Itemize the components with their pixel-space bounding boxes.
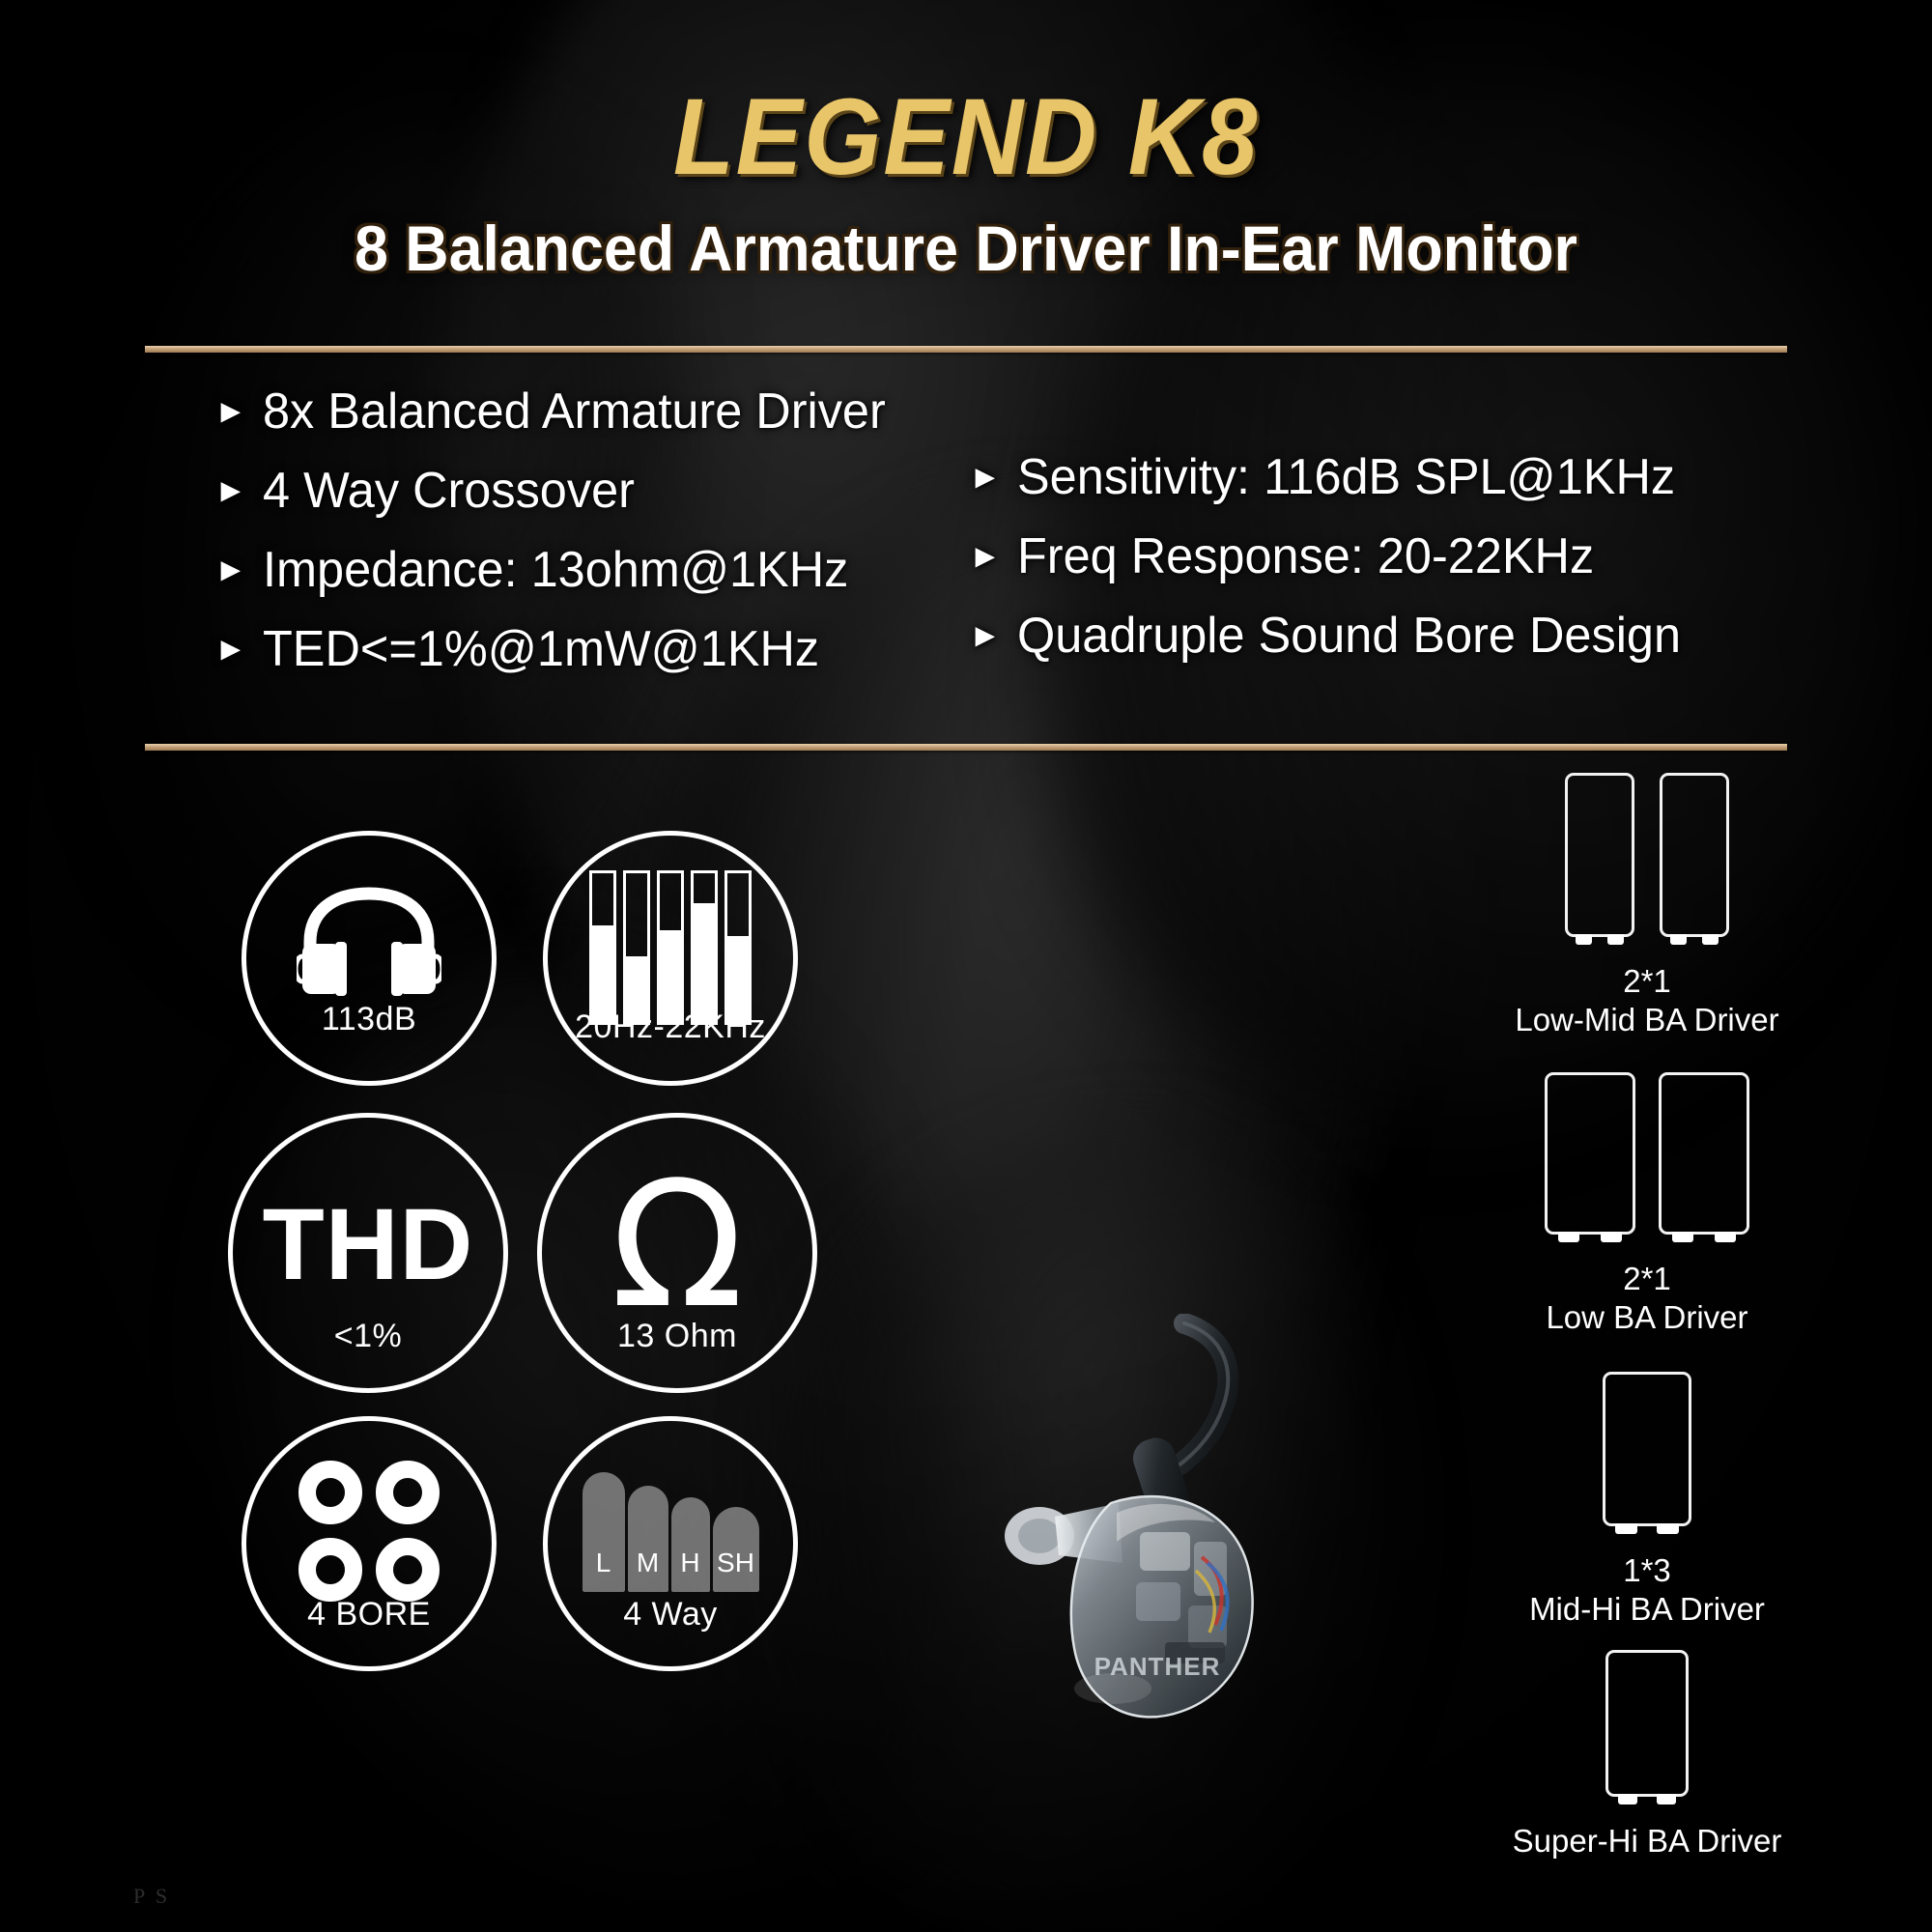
bore-ring <box>376 1461 440 1524</box>
ba-driver-icon <box>1659 1072 1749 1235</box>
icon-cell-sensitivity: 113dB <box>241 831 497 1086</box>
crossover-icon: L M H SH <box>582 1472 759 1592</box>
driver-label: Low-Mid BA Driver <box>1420 1001 1874 1039</box>
driver-label: Low BA Driver <box>1420 1298 1874 1337</box>
bullet-arrow-icon: ► <box>969 461 1002 494</box>
bullet-arrow-icon: ► <box>214 474 247 507</box>
spec-item: ► Sensitivity: 116dB SPL@1KHz <box>969 452 1701 502</box>
bore-circle: 4 BORE <box>241 1416 497 1671</box>
spec-label: TED<=1%@1mW@1KHz <box>263 624 819 674</box>
icon-cell-impedance: Ω 13 Ohm <box>537 1113 817 1393</box>
sensitivity-circle: 113dB <box>241 831 497 1086</box>
bullet-arrow-icon: ► <box>214 633 247 666</box>
bore-ring <box>298 1538 362 1602</box>
headphone-icon <box>297 886 441 1007</box>
ba-driver-icon <box>1545 1072 1635 1235</box>
eq-bar <box>589 870 616 1025</box>
driver-count: 2*1 <box>1420 962 1874 1001</box>
driver-label: Mid-Hi BA Driver <box>1420 1590 1874 1629</box>
driver-caption: Super-Hi BA Driver <box>1420 1822 1874 1861</box>
spec-item: ► Quadruple Sound Bore Design <box>969 611 1701 661</box>
infographic-page: LEGEND K8 8 Balanced Armature Driver In-… <box>0 0 1932 1932</box>
ba-driver-icon <box>1605 1650 1689 1797</box>
eq-bar <box>724 870 752 1025</box>
bullet-arrow-icon: ► <box>214 554 247 586</box>
icon-cell-bore: 4 BORE <box>241 1416 497 1671</box>
divider-bottom <box>145 744 1787 751</box>
spec-label: Quadruple Sound Bore Design <box>1017 611 1681 661</box>
bore-ring <box>376 1538 440 1602</box>
crossover-band: H <box>671 1497 710 1592</box>
driver-group-super-hi: Super-Hi BA Driver <box>1420 1650 1874 1861</box>
driver-label: Super-Hi BA Driver <box>1420 1822 1874 1861</box>
crossover-band: M <box>628 1486 668 1592</box>
page-subtitle: 8 Balanced Armature Driver In-Ear Monito… <box>48 216 1884 280</box>
ba-driver-icon <box>1603 1372 1691 1526</box>
driver-group-mid-hi: 1*3 Mid-Hi BA Driver <box>1420 1372 1874 1630</box>
four-bore-icon <box>298 1461 440 1602</box>
driver-row <box>1420 1372 1874 1526</box>
spec-label: Impedance: 13ohm@1KHz <box>263 545 848 595</box>
spec-item: ► 4 Way Crossover <box>214 466 904 516</box>
driver-caption: 2*1 Low BA Driver <box>1420 1260 1874 1338</box>
spec-item: ► 8x Balanced Armature Driver <box>214 386 904 437</box>
eq-bar <box>657 870 684 1025</box>
thd-circle: THD <1% <box>228 1113 508 1393</box>
spec-list: ► 8x Balanced Armature Driver ► 4 Way Cr… <box>0 386 1932 724</box>
crossover-band: L <box>582 1472 625 1592</box>
crossover-band: SH <box>713 1507 759 1592</box>
impedance-label: 13 Ohm <box>542 1318 812 1355</box>
spec-label: 8x Balanced Armature Driver <box>263 386 886 437</box>
eq-bar <box>691 870 718 1025</box>
spec-label: Sensitivity: 116dB SPL@1KHz <box>1017 452 1675 502</box>
thd-glyph: THD <box>263 1194 474 1295</box>
spec-item: ► TED<=1%@1mW@1KHz <box>214 624 904 674</box>
icon-cell-crossover: L M H SH 4 Way <box>543 1416 798 1671</box>
page-title: LEGEND K8 <box>77 83 1855 191</box>
driver-caption: 1*3 Mid-Hi BA Driver <box>1420 1551 1874 1630</box>
spec-column-right: ► Sensitivity: 116dB SPL@1KHz ► Freq Res… <box>969 452 1701 690</box>
driver-count: 2*1 <box>1420 1260 1874 1298</box>
crossover-label: 4 Way <box>548 1596 793 1634</box>
thd-label: <1% <box>233 1318 503 1355</box>
spec-item: ► Impedance: 13ohm@1KHz <box>214 545 904 595</box>
ba-driver-icon <box>1565 773 1634 937</box>
bullet-arrow-icon: ► <box>214 395 247 428</box>
bullet-arrow-icon: ► <box>969 540 1002 573</box>
icon-cell-frequency: 20Hz-22KHz <box>543 831 798 1086</box>
bullet-arrow-icon: ► <box>969 619 1002 652</box>
impedance-circle: Ω 13 Ohm <box>537 1113 817 1393</box>
driver-count: 1*3 <box>1420 1551 1874 1590</box>
watermark: P S <box>133 1884 170 1909</box>
driver-caption: 2*1 Low-Mid BA Driver <box>1420 962 1874 1040</box>
header: LEGEND K8 8 Balanced Armature Driver In-… <box>0 0 1932 280</box>
eq-bar <box>623 870 650 1025</box>
driver-group-low: 2*1 Low BA Driver <box>1420 1072 1874 1338</box>
divider-top <box>145 346 1787 353</box>
driver-row <box>1420 1650 1874 1797</box>
icon-cell-thd: THD <1% <box>228 1113 508 1393</box>
frequency-label: 20Hz-22KHz <box>548 1009 793 1046</box>
bore-ring <box>298 1461 362 1524</box>
ba-driver-icon <box>1660 773 1729 937</box>
earphone-product-image: PANTHER <box>995 1314 1314 1758</box>
sensitivity-label: 113dB <box>246 1001 492 1038</box>
equalizer-icon <box>589 870 752 1025</box>
driver-row <box>1420 1072 1874 1235</box>
spec-label: Freq Response: 20-22KHz <box>1017 531 1594 582</box>
driver-row <box>1420 773 1874 937</box>
driver-group-low-mid: 2*1 Low-Mid BA Driver <box>1420 773 1874 1040</box>
spec-item: ► Freq Response: 20-22KHz <box>969 531 1701 582</box>
frequency-circle: 20Hz-22KHz <box>543 831 798 1086</box>
ohm-icon: Ω <box>611 1175 744 1318</box>
crossover-circle: L M H SH 4 Way <box>543 1416 798 1671</box>
spec-label: 4 Way Crossover <box>263 466 635 516</box>
bore-label: 4 BORE <box>246 1596 492 1634</box>
spec-column-left: ► 8x Balanced Armature Driver ► 4 Way Cr… <box>214 386 904 703</box>
